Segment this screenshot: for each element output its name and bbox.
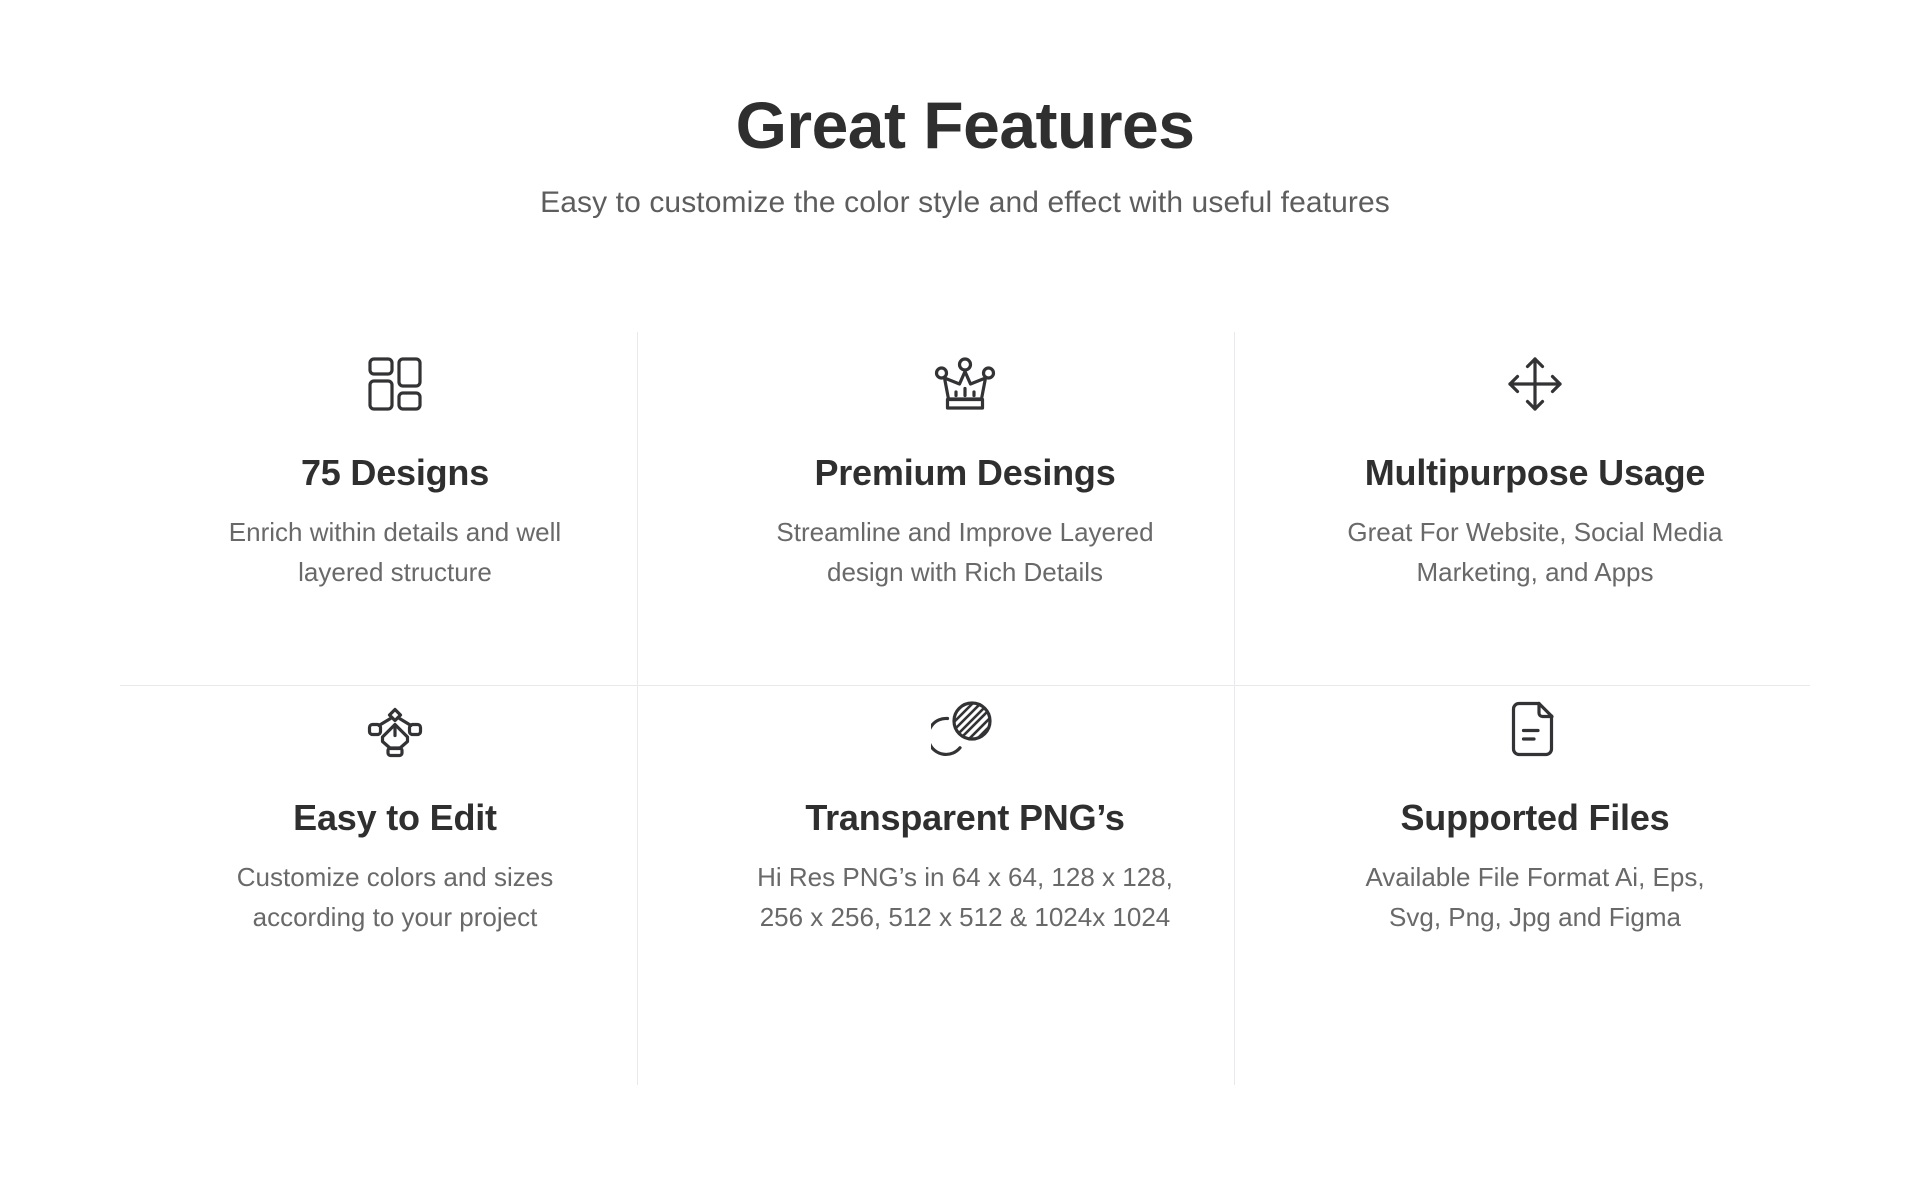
move-arrows-icon (1501, 350, 1569, 418)
feature-description: Available File Format Ai, Eps, Svg, Png,… (1365, 838, 1704, 937)
feature-card-transparent-png: Transparent PNG’s Hi Res PNG’s in 64 x 6… (680, 685, 1250, 1030)
feature-description: Great For Website, Social Media Marketin… (1347, 493, 1722, 592)
features-page: Great Features Easy to customize the col… (0, 0, 1930, 1200)
feature-title: Transparent PNG’s (805, 763, 1124, 838)
feature-description: Enrich within details and well layered s… (229, 493, 561, 592)
feature-title: Premium Desings (814, 418, 1115, 493)
page-subtitle: Easy to customize the color style and ef… (0, 161, 1930, 221)
pen-node-icon (361, 695, 429, 763)
feature-card-easy-edit: Easy to Edit Customize colors and sizes … (110, 685, 680, 1030)
feature-title: Supported Files (1400, 763, 1669, 838)
feature-card-supported-files: Supported Files Available File Format Ai… (1250, 685, 1820, 1030)
feature-title: Easy to Edit (293, 763, 497, 838)
layout-grid-icon (361, 350, 429, 418)
page-title: Great Features (0, 0, 1930, 161)
feature-description: Customize colors and sizes according to … (237, 838, 553, 937)
feature-grid: 75 Designs Enrich within details and wel… (110, 340, 1820, 1030)
feature-title: Multipurpose Usage (1365, 418, 1705, 493)
feature-title: 75 Designs (301, 418, 489, 493)
feature-card-designs: 75 Designs Enrich within details and wel… (110, 340, 680, 685)
crown-icon (931, 350, 999, 418)
page-header: Great Features Easy to customize the col… (0, 0, 1930, 221)
feature-description: Hi Res PNG’s in 64 x 64, 128 x 128, 256 … (757, 838, 1173, 937)
document-file-icon (1501, 695, 1569, 763)
feature-description: Streamline and Improve Layered design wi… (776, 493, 1153, 592)
feature-card-multipurpose: Multipurpose Usage Great For Website, So… (1250, 340, 1820, 685)
transparency-circles-icon (931, 695, 999, 763)
feature-card-premium: Premium Desings Streamline and Improve L… (680, 340, 1250, 685)
